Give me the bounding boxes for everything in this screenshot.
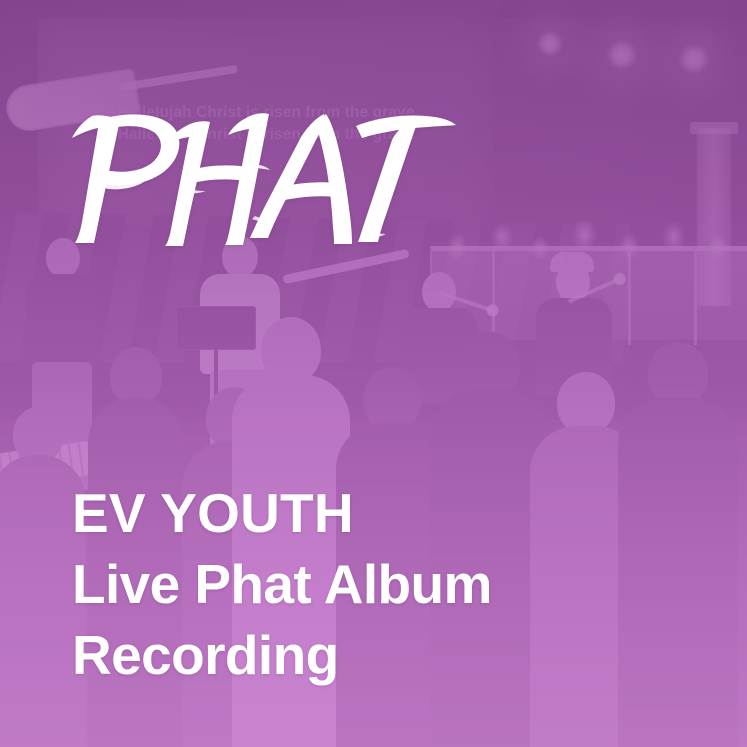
phat-logo: [58, 104, 458, 246]
poster-content: EV YOUTH Live Phat Album Recording: [0, 0, 747, 747]
title-line-1: EV YOUTH: [72, 478, 712, 549]
title-line-3: Recording: [72, 620, 712, 691]
title-line-2: Live Phat Album: [72, 549, 712, 620]
poster-title: EV YOUTH Live Phat Album Recording: [72, 478, 712, 691]
event-poster: Hallelujah Christ is risen from the grav…: [0, 0, 747, 747]
